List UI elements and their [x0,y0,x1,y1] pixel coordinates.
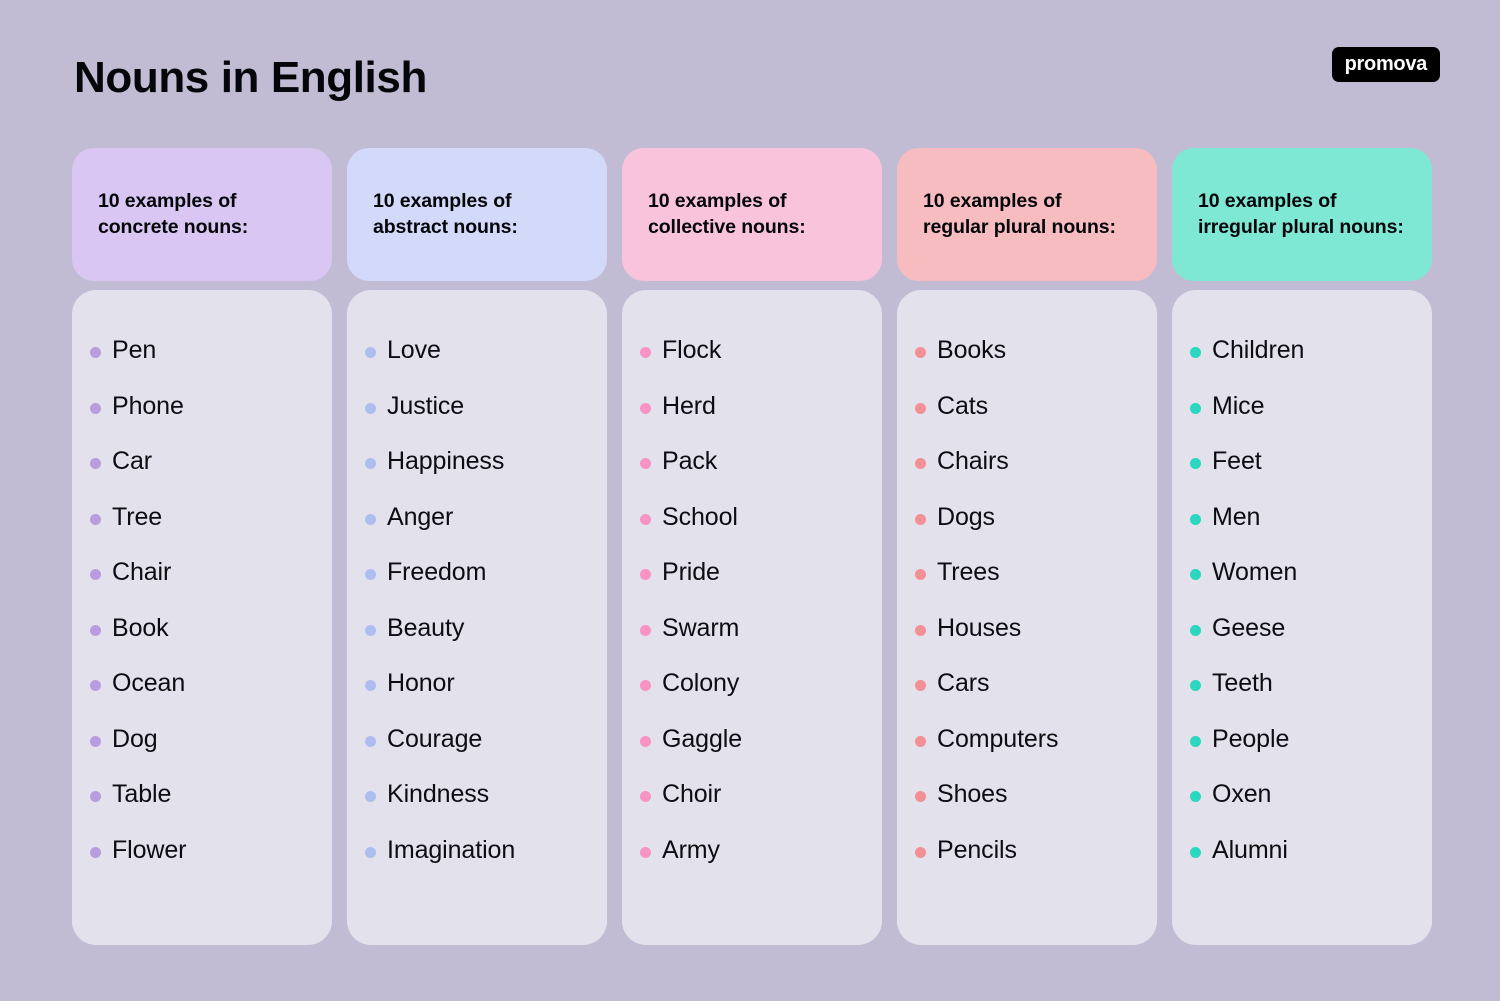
category-header-card: 10 examples of irregular plural nouns: [1172,148,1432,281]
promova-logo: promova [1332,47,1440,82]
noun-label: Trees [937,556,999,589]
list-item: Flower [90,834,314,867]
bullet-icon [90,736,101,747]
list-item: Shoes [915,778,1139,811]
list-item: Choir [640,778,864,811]
list-item: Phone [90,390,314,423]
category-body-card: PenPhoneCarTreeChairBookOceanDogTableFlo… [72,290,332,945]
list-item: Trees [915,556,1139,589]
list-item: Honor [365,667,589,700]
bullet-icon [365,847,376,858]
bullet-icon [90,680,101,691]
category-header-card: 10 examples of abstract nouns: [347,148,607,281]
bullet-icon [90,403,101,414]
noun-label: Freedom [387,556,486,589]
noun-label: Happiness [387,445,504,478]
noun-list: LoveJusticeHappinessAngerFreedomBeautyHo… [365,334,589,867]
list-item: Flock [640,334,864,367]
noun-label: Men [1212,501,1260,534]
category-header-label: 10 examples of concrete nouns: [98,189,306,241]
noun-category-column: 10 examples of regular plural nouns:Book… [897,148,1157,945]
bullet-icon [1190,403,1201,414]
bullet-icon [915,514,926,525]
noun-label: Imagination [387,834,515,867]
noun-label: Gaggle [662,723,742,756]
category-body-card: ChildrenMiceFeetMenWomenGeeseTeethPeople… [1172,290,1432,945]
list-item: Alumni [1190,834,1414,867]
noun-label: Phone [112,390,184,423]
noun-label: Colony [662,667,739,700]
noun-label: Army [662,834,720,867]
bullet-icon [1190,791,1201,802]
list-item: Teeth [1190,667,1414,700]
list-item: Feet [1190,445,1414,478]
list-item: Pride [640,556,864,589]
list-item: Women [1190,556,1414,589]
noun-label: Choir [662,778,721,811]
list-item: Love [365,334,589,367]
noun-label: Courage [387,723,482,756]
bullet-icon [365,680,376,691]
list-item: Men [1190,501,1414,534]
bullet-icon [90,347,101,358]
bullet-icon [1190,736,1201,747]
bullet-icon [365,736,376,747]
list-item: Swarm [640,612,864,645]
list-item: Happiness [365,445,589,478]
list-item: Computers [915,723,1139,756]
noun-label: Flower [112,834,186,867]
list-item: Chair [90,556,314,589]
list-item: Cars [915,667,1139,700]
noun-label: Love [387,334,441,367]
noun-label: Herd [662,390,716,423]
noun-label: Oxen [1212,778,1271,811]
bullet-icon [90,458,101,469]
noun-label: Children [1212,334,1304,367]
list-item: Dogs [915,501,1139,534]
noun-label: Dog [112,723,158,756]
bullet-icon [640,736,651,747]
list-item: Pen [90,334,314,367]
category-body-card: BooksCatsChairsDogsTreesHousesCarsComput… [897,290,1157,945]
bullet-icon [365,403,376,414]
list-item: Mice [1190,390,1414,423]
category-body-card: FlockHerdPackSchoolPrideSwarmColonyGaggl… [622,290,882,945]
noun-label: People [1212,723,1289,756]
list-item: Imagination [365,834,589,867]
bullet-icon [915,791,926,802]
noun-list: FlockHerdPackSchoolPrideSwarmColonyGaggl… [640,334,864,867]
noun-label: Cats [937,390,988,423]
bullet-icon [640,847,651,858]
noun-label: Ocean [112,667,185,700]
bullet-icon [365,569,376,580]
noun-label: Women [1212,556,1297,589]
infographic-page: Nouns in English promova 10 examples of … [0,0,1500,1001]
category-header-label: 10 examples of regular plural nouns: [923,189,1131,241]
bullet-icon [915,625,926,636]
noun-label: Kindness [387,778,489,811]
noun-label: Geese [1212,612,1285,645]
noun-label: Pencils [937,834,1017,867]
noun-label: Houses [937,612,1021,645]
bullet-icon [1190,514,1201,525]
noun-category-column: 10 examples of collective nouns:FlockHer… [622,148,882,945]
category-header-label: 10 examples of collective nouns: [648,189,856,241]
noun-label: Car [112,445,152,478]
bullet-icon [915,458,926,469]
bullet-icon [90,791,101,802]
bullet-icon [1190,847,1201,858]
list-item: Ocean [90,667,314,700]
noun-label: Alumni [1212,834,1288,867]
noun-label: Swarm [662,612,739,645]
list-item: Pack [640,445,864,478]
list-item: Cats [915,390,1139,423]
page-header: Nouns in English promova [0,0,1500,148]
list-item: Table [90,778,314,811]
bullet-icon [1190,680,1201,691]
noun-label: Anger [387,501,453,534]
list-item: Pencils [915,834,1139,867]
noun-label: Mice [1212,390,1264,423]
bullet-icon [365,458,376,469]
list-item: Beauty [365,612,589,645]
list-item: Herd [640,390,864,423]
noun-label: Books [937,334,1006,367]
category-header-card: 10 examples of regular plural nouns: [897,148,1157,281]
bullet-icon [90,514,101,525]
list-item: Courage [365,723,589,756]
promova-logo-text: promova [1345,54,1427,74]
noun-label: Pack [662,445,717,478]
list-item: Justice [365,390,589,423]
noun-category-column: 10 examples of concrete nouns:PenPhoneCa… [72,148,332,945]
list-item: Gaggle [640,723,864,756]
bullet-icon [915,347,926,358]
list-item: Oxen [1190,778,1414,811]
bullet-icon [915,847,926,858]
noun-label: Honor [387,667,455,700]
bullet-icon [640,347,651,358]
bullet-icon [365,514,376,525]
list-item: Geese [1190,612,1414,645]
bullet-icon [1190,569,1201,580]
bullet-icon [1190,347,1201,358]
noun-label: Cars [937,667,989,700]
noun-label: Pen [112,334,156,367]
noun-label: Shoes [937,778,1007,811]
category-header-label: 10 examples of irregular plural nouns: [1198,189,1406,241]
bullet-icon [640,680,651,691]
noun-label: Book [112,612,169,645]
noun-label: Tree [112,501,162,534]
bullet-icon [640,403,651,414]
noun-label: Justice [387,390,464,423]
noun-label: Dogs [937,501,995,534]
category-body-card: LoveJusticeHappinessAngerFreedomBeautyHo… [347,290,607,945]
noun-label: School [662,501,738,534]
bullet-icon [915,569,926,580]
list-item: Kindness [365,778,589,811]
list-item: Car [90,445,314,478]
noun-label: Flock [662,334,721,367]
bullet-icon [915,736,926,747]
bullet-icon [915,403,926,414]
list-item: People [1190,723,1414,756]
bullet-icon [90,569,101,580]
list-item: Army [640,834,864,867]
noun-category-column: 10 examples of abstract nouns:LoveJustic… [347,148,607,945]
bullet-icon [1190,458,1201,469]
noun-list: ChildrenMiceFeetMenWomenGeeseTeethPeople… [1190,334,1414,867]
noun-label: Table [112,778,171,811]
category-header-label: 10 examples of abstract nouns: [373,189,581,241]
list-item: Anger [365,501,589,534]
bullet-icon [640,791,651,802]
bullet-icon [365,347,376,358]
bullet-icon [640,625,651,636]
noun-list: PenPhoneCarTreeChairBookOceanDogTableFlo… [90,334,314,867]
noun-list: BooksCatsChairsDogsTreesHousesCarsComput… [915,334,1139,867]
list-item: Houses [915,612,1139,645]
list-item: Tree [90,501,314,534]
noun-category-columns: 10 examples of concrete nouns:PenPhoneCa… [72,148,1432,945]
noun-label: Chair [112,556,171,589]
list-item: Children [1190,334,1414,367]
list-item: Books [915,334,1139,367]
bullet-icon [365,625,376,636]
bullet-icon [90,625,101,636]
noun-label: Chairs [937,445,1009,478]
bullet-icon [640,458,651,469]
noun-label: Feet [1212,445,1262,478]
list-item: Freedom [365,556,589,589]
list-item: Colony [640,667,864,700]
noun-label: Teeth [1212,667,1273,700]
bullet-icon [915,680,926,691]
page-title: Nouns in English [74,56,427,100]
bullet-icon [90,847,101,858]
bullet-icon [365,791,376,802]
bullet-icon [640,569,651,580]
bullet-icon [640,514,651,525]
category-header-card: 10 examples of concrete nouns: [72,148,332,281]
noun-label: Computers [937,723,1058,756]
list-item: School [640,501,864,534]
category-header-card: 10 examples of collective nouns: [622,148,882,281]
noun-label: Beauty [387,612,464,645]
bullet-icon [1190,625,1201,636]
list-item: Chairs [915,445,1139,478]
noun-category-column: 10 examples of irregular plural nouns:Ch… [1172,148,1432,945]
list-item: Book [90,612,314,645]
noun-label: Pride [662,556,720,589]
list-item: Dog [90,723,314,756]
